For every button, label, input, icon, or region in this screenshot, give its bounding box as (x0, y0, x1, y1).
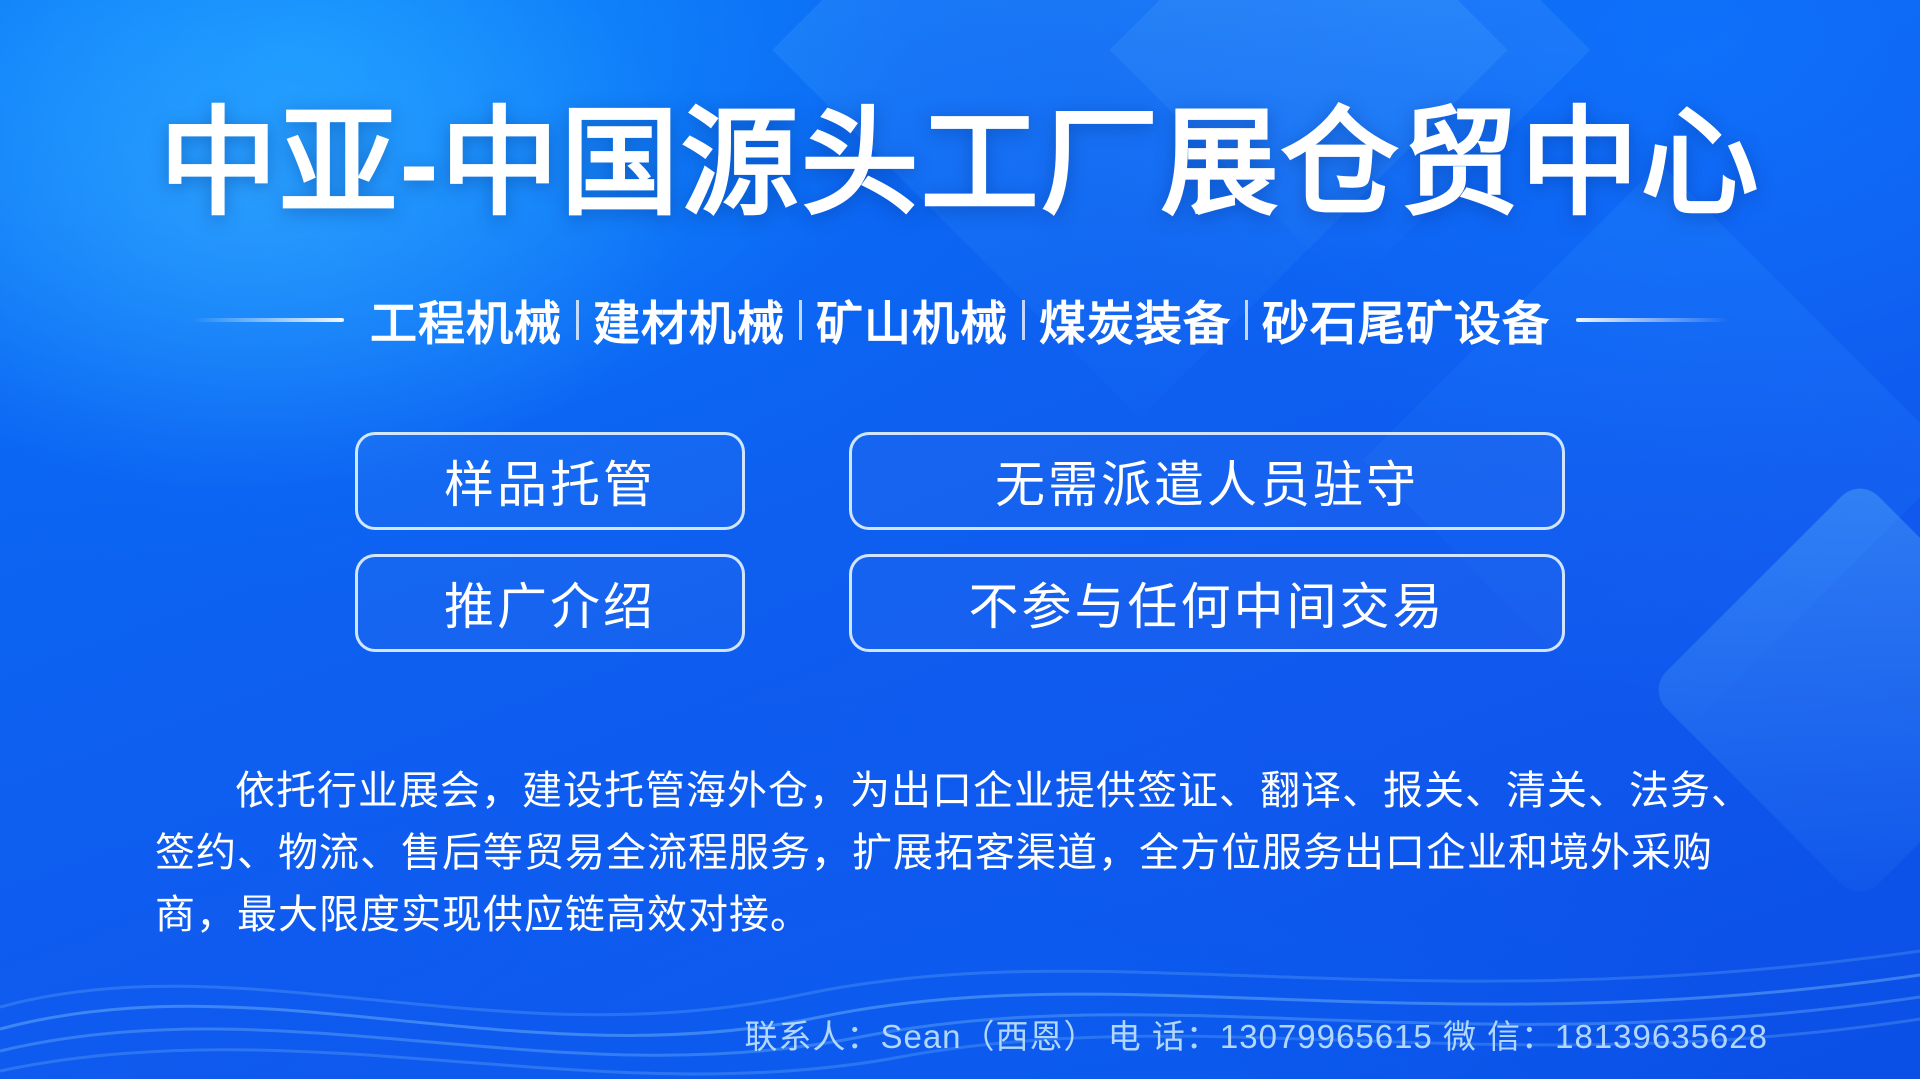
category-separator-icon (576, 300, 579, 340)
category-separator-icon (799, 300, 802, 340)
feature-row-top: 样品托管 无需派遣人员驻守 (355, 432, 1565, 530)
feature-box-group: 样品托管 无需派遣人员驻守 推广介绍 不参与任何中间交易 (0, 432, 1920, 652)
category-subtitle-row: 工程机械 建材机械 矿山机械 煤炭装备 砂石尾矿设备 (0, 285, 1920, 354)
feature-row-bottom: 推广介绍 不参与任何中间交易 (355, 554, 1565, 652)
contact-person: 联系人：Sean（西恩） (744, 1014, 1097, 1061)
category-item: 砂石尾矿设备 (1262, 285, 1550, 354)
promotional-banner: 中亚-中国源头工厂展仓贸中心 工程机械 建材机械 矿山机械 煤炭装备 砂石尾矿设… (0, 0, 1920, 1079)
feature-box-no-intermediary-trade[interactable]: 不参与任何中间交易 (849, 554, 1565, 652)
category-separator-icon (1022, 300, 1025, 340)
category-item: 煤炭装备 (1039, 285, 1231, 354)
feature-box-promotion-intro[interactable]: 推广介绍 (355, 554, 745, 652)
category-item: 建材机械 (593, 285, 785, 354)
divider-line-right (1576, 318, 1726, 322)
category-item: 工程机械 (370, 285, 562, 354)
category-item: 矿山机械 (816, 285, 1008, 354)
contact-wechat: 微 信：18139635628 (1443, 1014, 1768, 1061)
feature-box-sample-custody[interactable]: 样品托管 (355, 432, 745, 530)
divider-line-left (194, 318, 344, 322)
description-paragraph: 依托行业展会，建设托管海外仓，为出口企业提供签证、翻译、报关、清关、法务、签约、… (155, 760, 1765, 946)
banner-title: 中亚-中国源头工厂展仓贸中心 (0, 105, 1920, 223)
contact-info-block: 联系人：Sean（西恩） 电 话：13079965615 微 信：1813963… (744, 1014, 1768, 1061)
feature-box-no-staff-required[interactable]: 无需派遣人员驻守 (849, 432, 1565, 530)
category-list: 工程机械 建材机械 矿山机械 煤炭装备 砂石尾矿设备 (370, 285, 1550, 354)
category-separator-icon (1245, 300, 1248, 340)
contact-phone: 电 话：13079965615 (1108, 1014, 1433, 1061)
